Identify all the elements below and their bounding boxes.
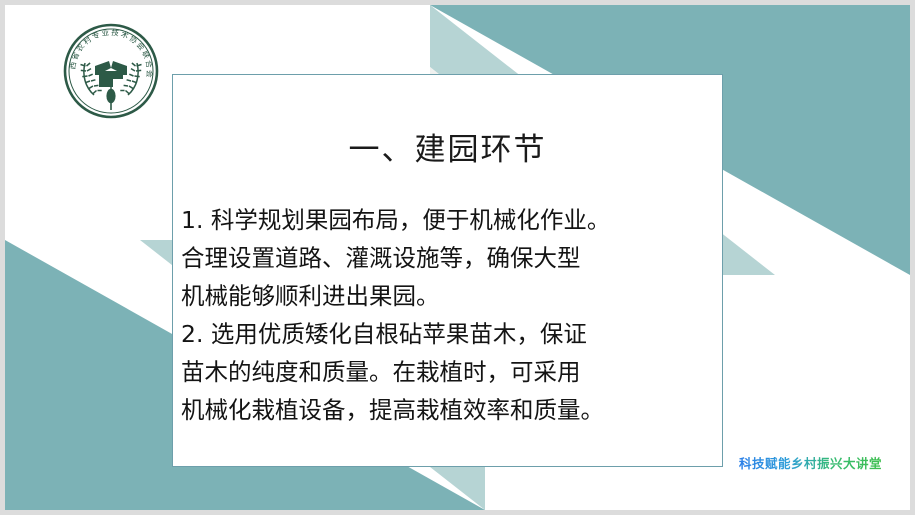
- slide-body-text: 1. 科学规划果园布局，便于机械化作业。 合理设置道路、灌溉设施等，确保大型 机…: [173, 167, 722, 429]
- body-line: 苗木的纯度和质量。在栽植时，可采用: [181, 353, 714, 391]
- body-line: 2. 选用优质矮化自根砧苹果苗木，保证: [181, 315, 714, 353]
- body-line: 机械能够顺利进出果园。: [181, 277, 714, 315]
- body-line: 合理设置道路、灌溉设施等，确保大型: [181, 239, 714, 277]
- slide-content-box: 一、建园环节 1. 科学规划果园布局，便于机械化作业。 合理设置道路、灌溉设施等…: [172, 74, 723, 467]
- footer-brand-text: 科技赋能乡村振兴大讲堂: [739, 453, 882, 472]
- slide-title: 一、建园环节: [173, 75, 722, 167]
- body-line: 机械化栽植设备，提高栽植效率和质量。: [181, 391, 714, 429]
- body-line: 1. 科学规划果园布局，便于机械化作业。: [181, 201, 714, 239]
- presentation-slide: 陕西省农村专业技术协会联合会: [0, 0, 915, 515]
- organization-logo: 陕西省农村专业技术协会联合会: [61, 21, 161, 121]
